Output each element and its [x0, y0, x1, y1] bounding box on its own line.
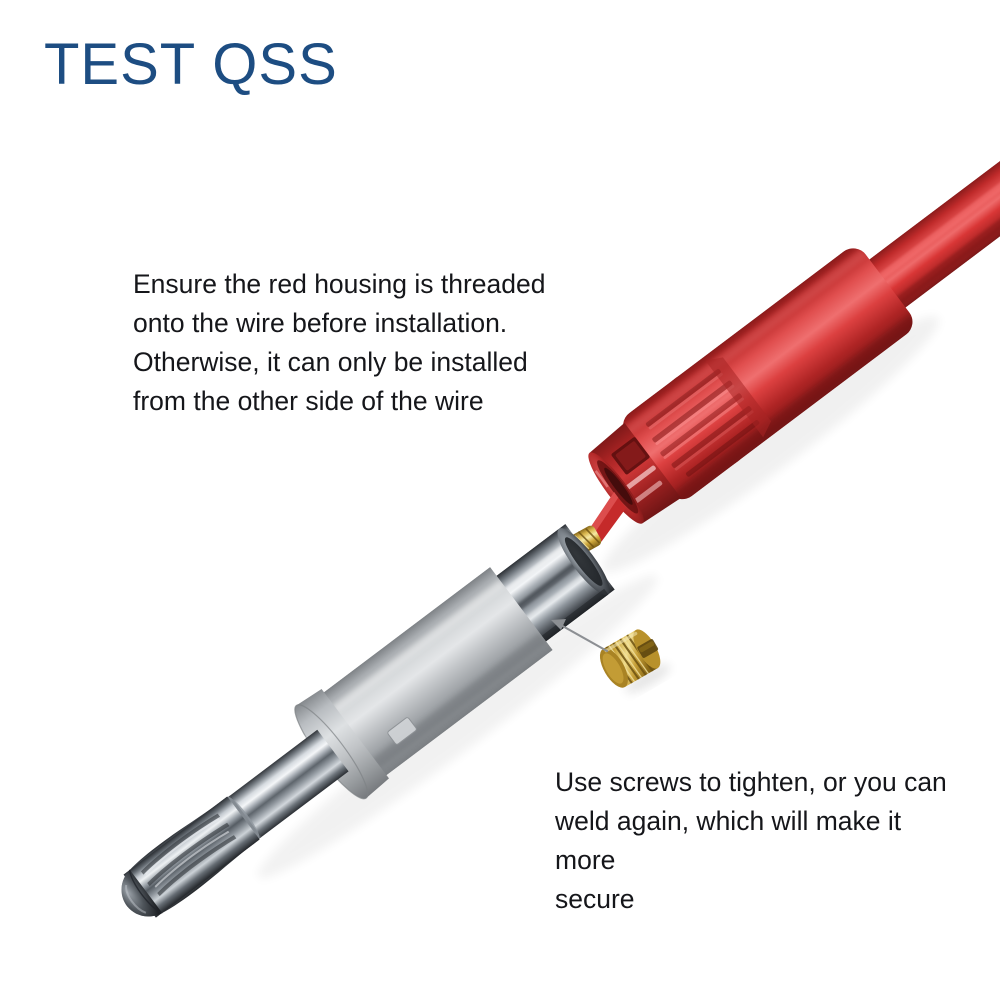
page-title: TEST QSS [44, 36, 338, 94]
instruction-text-screw: Use screws to tighten, or you can weld a… [555, 763, 955, 919]
banana-tip [109, 794, 261, 929]
instruction-text-housing: Ensure the red housing is threaded onto … [133, 265, 563, 421]
instruction-graphic: TEST QSS Ensure the red housing is threa… [0, 0, 1000, 1000]
